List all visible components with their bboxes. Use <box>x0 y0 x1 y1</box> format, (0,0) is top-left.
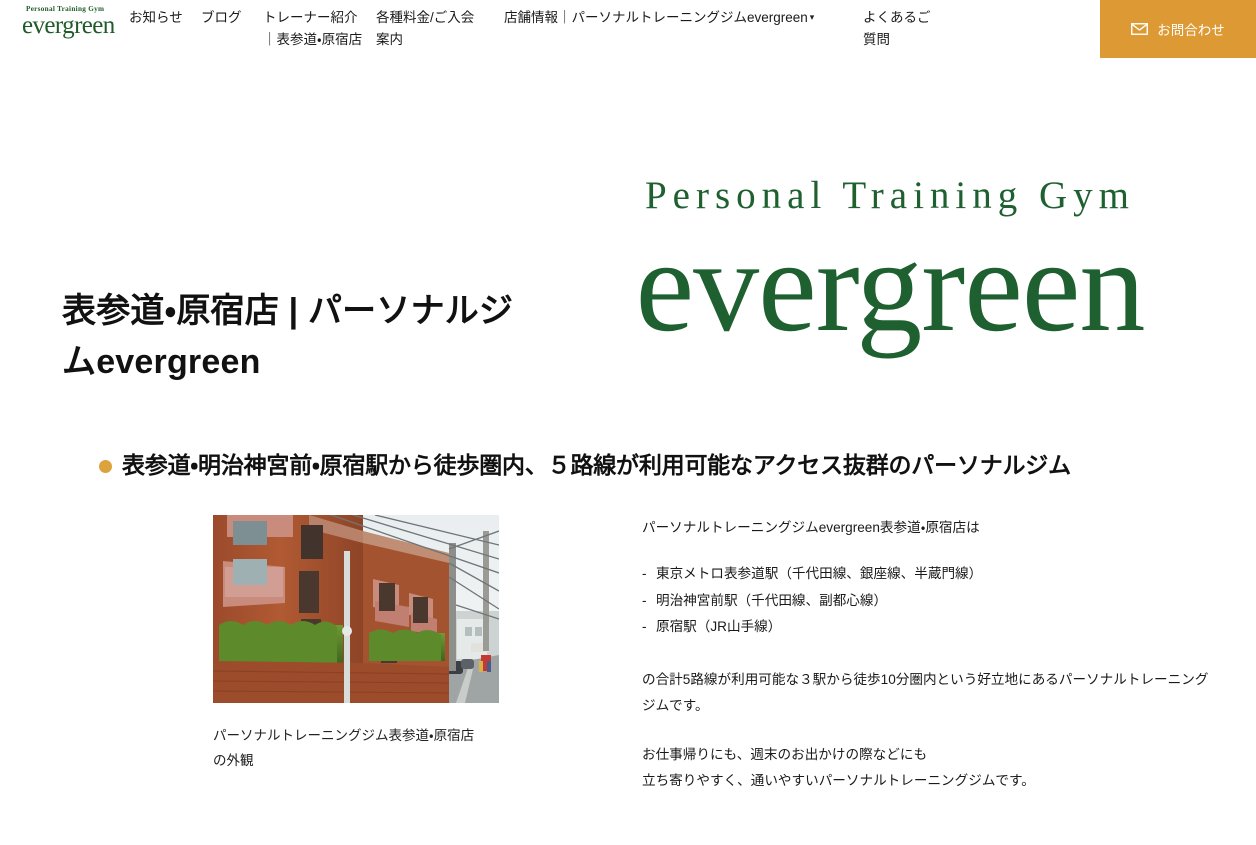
access-section: 表参道・明治神宮前・原宿駅から徒歩圏内、５路線が利用可能なアクセス抜群のパーソナ… <box>0 448 1256 817</box>
chevron-down-icon: ▾ <box>810 10 815 25</box>
section-heading: 表参道・明治神宮前・原宿駅から徒歩圏内、５路線が利用可能なアクセス抜群のパーソナ… <box>0 448 1256 483</box>
nav-item-blog[interactable]: ブログ <box>201 7 251 29</box>
contact-button[interactable]: お問合わせ <box>1100 0 1256 58</box>
list-item: 原宿駅（JR山手線） <box>642 614 1216 641</box>
nav-item-trainers[interactable]: トレーナー紹介｜表参道・原宿店 <box>263 7 367 51</box>
nav-item-store-info-label: 店舗情報｜パーソナルトレーニングジムevergreen <box>504 10 808 25</box>
envelope-icon <box>1131 23 1148 35</box>
closing-paragraph: お仕事帰りにも、週末のお出かけの際などにも 立ち寄りやすく、通いやすいパーソナル… <box>642 742 1216 795</box>
nav-item-pricing[interactable]: 各種料金/ご入会案内 <box>376 7 481 51</box>
main-navigation: お知らせ ブログ トレーナー紹介｜表参道・原宿店 各種料金/ご入会案内 店舗情報… <box>118 0 1100 51</box>
nav-item-faq[interactable]: よくあるご質問 <box>863 7 943 51</box>
page-title: 表参道・原宿店 | パーソナルジムevergreen <box>62 286 532 388</box>
station-list: 東京メトロ表参道駅（千代田線、銀座線、半蔵門線） 明治神宮前駅（千代田線、副都心… <box>642 561 1216 641</box>
gym-exterior-photo <box>213 515 499 703</box>
section-heading-text: 表参道・明治神宮前・原宿駅から徒歩圏内、５路線が利用可能なアクセス抜群のパーソナ… <box>122 452 1071 478</box>
list-item: 東京メトロ表参道駅（千代田線、銀座線、半蔵門線） <box>642 561 1216 588</box>
figure-column: パーソナルトレーニングジム表参道・原宿店の外観 <box>213 515 501 774</box>
intro-paragraph: パーソナルトレーニングジムevergreen表参道・原宿店は <box>642 515 1216 542</box>
site-header: Personal Training Gym evergreen お知らせ ブログ… <box>0 0 1256 58</box>
contact-button-label: お問合わせ <box>1157 19 1225 39</box>
list-item: 明治神宮前駅（千代田線、副都心線） <box>642 588 1216 615</box>
nav-item-news[interactable]: お知らせ <box>129 7 191 29</box>
figure-caption: パーソナルトレーニングジム表参道・原宿店の外観 <box>213 724 485 774</box>
site-logo[interactable]: Personal Training Gym evergreen <box>0 0 118 38</box>
hero-logo-image: Personal Training Gym evergreen <box>560 176 1220 356</box>
gym-exterior-figure: パーソナルトレーニングジム表参道・原宿店の外観 <box>213 515 501 774</box>
site-logo-wordmark: evergreen <box>22 14 118 38</box>
hero-logo-wordmark: evergreen <box>560 217 1220 356</box>
nav-item-store-info[interactable]: 店舗情報｜パーソナルトレーニングジムevergreen▾ <box>504 7 854 29</box>
hero-logo-subtitle: Personal Training Gym <box>560 176 1220 215</box>
hero-section: Personal Training Gym evergreen 表参道・原宿店 … <box>0 58 1256 448</box>
access-paragraph: の合計5路線が利用可能な３駅から徒歩10分圏内という好立地にあるパーソナルトレー… <box>642 667 1216 720</box>
content-columns: パーソナルトレーニングジム表参道・原宿店の外観 パーソナルトレーニングジムeve… <box>0 483 1256 817</box>
bullet-icon <box>99 460 112 473</box>
text-column: パーソナルトレーニングジムevergreen表参道・原宿店は 東京メトロ表参道駅… <box>642 515 1256 817</box>
